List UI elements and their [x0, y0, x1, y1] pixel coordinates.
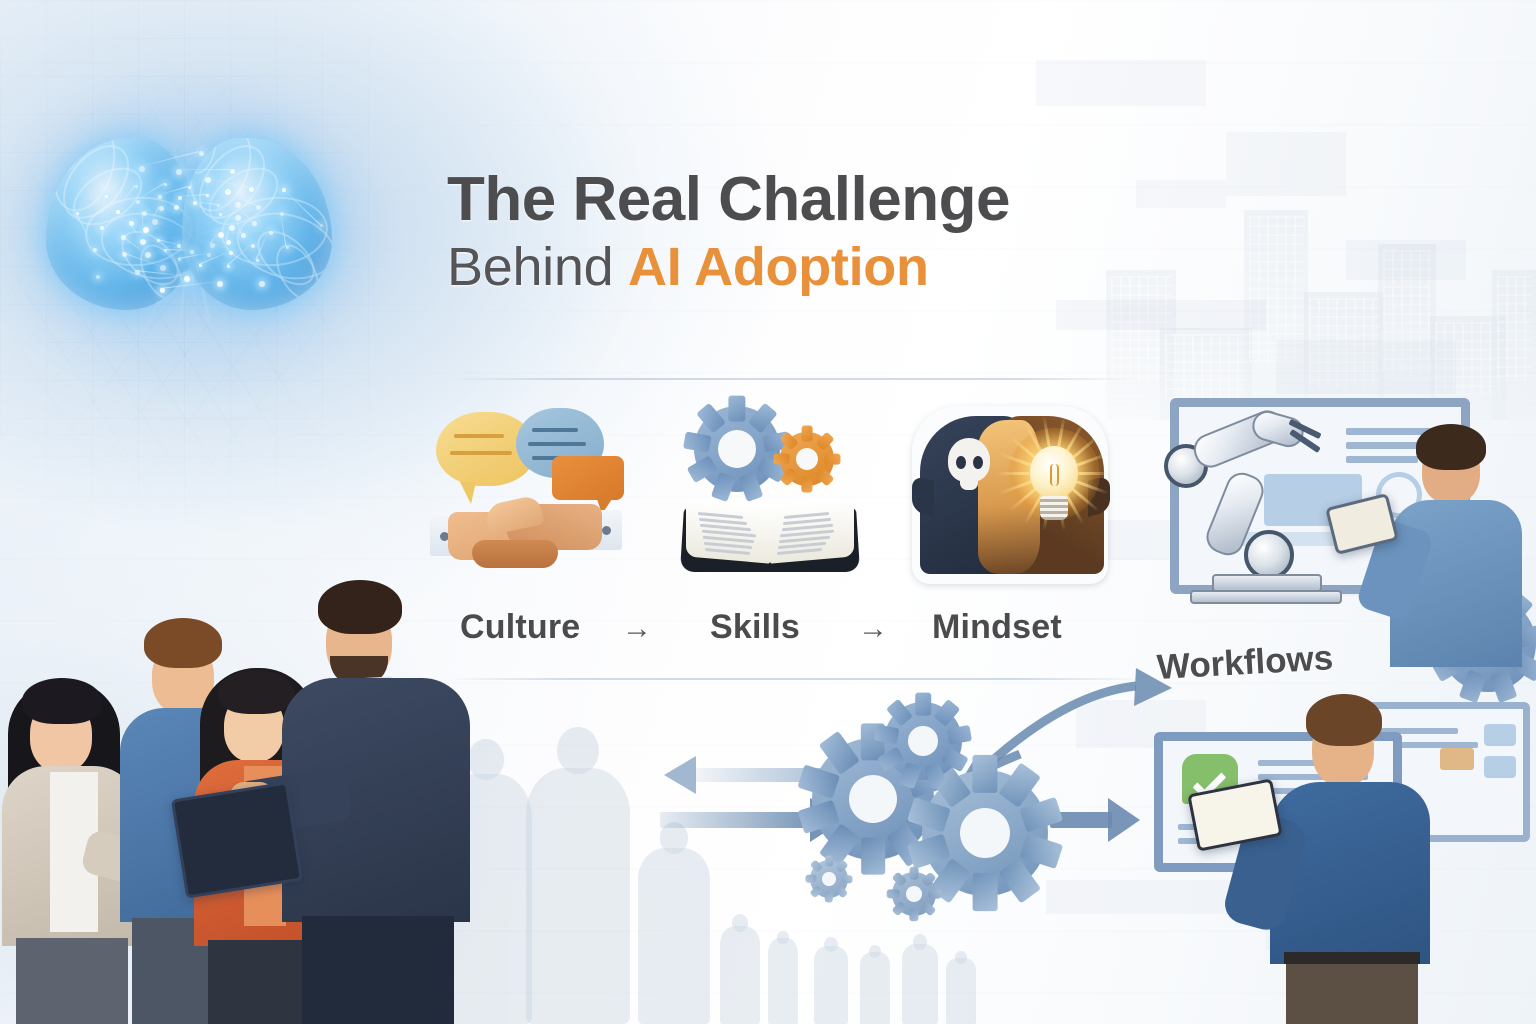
- gear-tooth: [835, 885, 848, 898]
- brain-node: [190, 250, 194, 254]
- brain-node: [188, 186, 191, 189]
- gear-tooth: [915, 693, 931, 716]
- worker-hair: [1306, 694, 1382, 746]
- skull-eye-left: [956, 456, 966, 469]
- gear-tooth: [728, 396, 745, 422]
- brain-node: [241, 233, 246, 238]
- brain-synapse: [205, 177, 249, 188]
- brain-node: [218, 232, 224, 238]
- gear-tooth: [825, 855, 833, 866]
- gear-center-hole: [822, 872, 836, 886]
- lightbulb-filament: [1050, 464, 1059, 486]
- brain-node: [174, 205, 179, 210]
- gears-open-book-icon: [672, 404, 868, 584]
- ghost-silhouette-body: [768, 938, 798, 1024]
- step-arrow-2: →: [858, 612, 888, 646]
- brain-synapse: [178, 253, 208, 259]
- brain-node: [160, 265, 166, 271]
- flow-gear-large-right: [922, 770, 1048, 896]
- brain-node: [217, 281, 223, 287]
- gear-tooth: [887, 890, 900, 899]
- gear-center-hole: [908, 726, 938, 756]
- ghost-silhouette-body: [946, 958, 976, 1024]
- handshake-fingers: [472, 540, 558, 568]
- dual-head-skull-lightbulb-icon: [912, 406, 1108, 584]
- brain-synapse: [160, 281, 218, 289]
- gear-tooth: [928, 890, 941, 899]
- gear-cluster-flow-graphic: [660, 660, 1180, 940]
- brain-node: [139, 166, 145, 172]
- brain-synapse: [282, 188, 321, 225]
- bubble-line: [454, 434, 504, 438]
- brain-node: [96, 275, 100, 279]
- robot-joint-lower: [1244, 530, 1294, 580]
- worker-belt: [1284, 952, 1420, 964]
- flow-gear-tiny-mid: [892, 872, 936, 916]
- brain-node: [229, 225, 235, 231]
- flow-gear-medium-top: [884, 702, 962, 780]
- brain-node: [259, 281, 265, 287]
- brain-node: [256, 205, 261, 210]
- member4-hair: [318, 580, 402, 634]
- robot-arm-monitor-photo: [1160, 382, 1536, 667]
- brain-synapse: [157, 239, 177, 245]
- subtitle-plain-text: Behind: [447, 237, 628, 297]
- handshake-cuff-button: [602, 526, 611, 535]
- brain-synapse: [100, 195, 105, 227]
- brain-synapse: [256, 231, 269, 260]
- handshake-speech-bubbles-icon: [428, 404, 624, 584]
- brain-synapse: [139, 151, 199, 167]
- skull-eye-right: [973, 456, 983, 469]
- brain-node: [229, 251, 233, 255]
- gear-tooth: [910, 867, 919, 880]
- brain-node: [158, 195, 162, 199]
- brain-node: [320, 224, 323, 227]
- ghost-silhouette-body: [902, 944, 938, 1024]
- gear-tooth: [972, 873, 997, 911]
- brain-node: [140, 239, 146, 245]
- screen-amber-tile: [1440, 748, 1474, 770]
- brain-node: [93, 248, 97, 252]
- page-subtitle: Behind AI Adoption: [447, 239, 1147, 295]
- gear-center-hole: [718, 430, 756, 468]
- brain-synapse: [75, 212, 94, 248]
- skull-jaw: [960, 476, 978, 490]
- brain-synapse: [176, 169, 230, 170]
- gear-tooth: [841, 875, 852, 883]
- brain-synapse: [122, 252, 160, 266]
- screen-tile: [1484, 724, 1516, 746]
- brain-node: [230, 169, 235, 174]
- dashboard-worker: [1258, 690, 1444, 1024]
- infographic-canvas: The Real Challenge Behind AI Adoption: [0, 0, 1536, 1024]
- bubble-line: [532, 428, 578, 432]
- background-block: [1036, 60, 1206, 106]
- shared-tablet: [171, 781, 303, 898]
- brain-synapse: [280, 212, 287, 246]
- digital-brain-graphic: [40, 120, 340, 350]
- background-block: [1226, 132, 1346, 196]
- lightbulb-ray: [1078, 472, 1112, 475]
- ghost-silhouette-body: [720, 926, 760, 1024]
- gear-orange-small: [780, 432, 834, 486]
- member1-trousers: [16, 938, 128, 1024]
- worker-trousers: [1286, 958, 1418, 1024]
- ghost-silhouette-head: [869, 945, 881, 958]
- gear-tooth: [805, 875, 816, 883]
- title-block: The Real Challenge Behind AI Adoption: [447, 168, 1147, 295]
- gear-tooth: [824, 454, 840, 465]
- brain-node: [256, 259, 259, 262]
- screen-tile: [1484, 756, 1516, 778]
- brain-node: [206, 194, 209, 197]
- ghost-silhouette-head: [955, 951, 967, 964]
- brain-synapse: [134, 270, 184, 276]
- gear-tooth: [802, 476, 813, 492]
- brain-synapse: [209, 232, 219, 244]
- brain-node: [145, 252, 151, 258]
- ghost-silhouette-body: [860, 952, 890, 1024]
- robot-base-plate: [1190, 590, 1342, 604]
- divider-top: [446, 378, 1136, 380]
- brain-node: [269, 231, 273, 235]
- gear-tooth: [825, 891, 833, 902]
- ghost-silhouette-body: [814, 946, 848, 1024]
- page-title: The Real Challenge: [447, 168, 1147, 231]
- background-block: [1056, 300, 1266, 330]
- dashboard-worker-photo: [1140, 690, 1536, 1024]
- gear-tooth: [774, 454, 790, 465]
- ghost-silhouette-head: [557, 727, 599, 774]
- ghost-silhouette-body: [526, 768, 630, 1024]
- gear-tooth: [910, 908, 919, 921]
- speech-bubble-yellow-tail: [460, 482, 476, 504]
- workflows-label: Workflows: [1156, 638, 1334, 688]
- member4-trousers: [302, 916, 454, 1024]
- brain-node: [142, 211, 147, 216]
- gear-center-hole: [906, 886, 922, 902]
- brain-synapse: [152, 206, 159, 220]
- brain-node: [177, 244, 181, 248]
- city-skyline-silhouette: [1106, 120, 1536, 420]
- member1-hair-front: [22, 678, 102, 724]
- flow-gear-tiny-left: [810, 860, 848, 898]
- gear-tooth: [683, 431, 711, 452]
- brain-node: [143, 227, 149, 233]
- background-block: [1346, 240, 1466, 280]
- gear-blue-large: [694, 406, 780, 492]
- gear-tooth: [861, 838, 885, 875]
- brain-node: [249, 187, 254, 192]
- speech-bubble-orange: [552, 456, 624, 500]
- team-member-4: [280, 578, 476, 1024]
- brain-synapse: [225, 226, 229, 241]
- robot-panel-engineer: [1384, 408, 1534, 667]
- subtitle-accent-text: AI Adoption: [628, 237, 929, 297]
- brain-node: [219, 213, 222, 216]
- step-label-skills: Skills: [710, 608, 800, 647]
- gear-tooth: [802, 426, 813, 442]
- brain-node: [226, 240, 231, 245]
- bubble-line: [528, 442, 586, 446]
- bubble-line: [450, 451, 512, 455]
- gear-tooth: [921, 901, 937, 917]
- brain-synapse: [128, 221, 140, 240]
- brain-synapse: [226, 244, 251, 266]
- brain-synapse: [115, 185, 135, 210]
- engineer-hair: [1416, 424, 1486, 470]
- brain-neural-nodes: [40, 120, 340, 350]
- gear-tooth: [972, 755, 997, 793]
- brain-synapse: [164, 249, 190, 251]
- brain-synapse: [178, 194, 206, 197]
- lightbulb-ray: [996, 472, 1030, 475]
- step-arrow-1: →: [622, 612, 652, 646]
- brain-node: [207, 253, 211, 257]
- step-label-mindset: Mindset: [932, 608, 1062, 647]
- gear-center-hole: [960, 808, 1010, 858]
- lightbulb-base: [1040, 496, 1068, 520]
- business-team-tablet-photo: [0, 578, 480, 1024]
- background-block: [1136, 180, 1226, 208]
- brain-node: [252, 221, 257, 226]
- brain-node: [184, 276, 190, 282]
